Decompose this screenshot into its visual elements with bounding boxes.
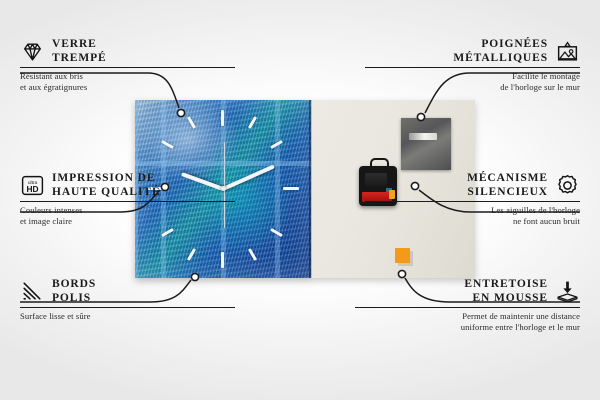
- panel-seam: [309, 100, 312, 278]
- svg-text:HD: HD: [26, 184, 38, 194]
- gear-icon: [555, 173, 580, 198]
- callout-description: Facilite le montagede l'horloge sur le m…: [365, 68, 580, 93]
- callout-description: Surface lisse et sûre: [20, 308, 235, 322]
- callout-bords-polis[interactable]: BORDSPOLIS Surface lisse et sûre: [20, 278, 235, 322]
- callout-header: BORDSPOLIS: [20, 278, 235, 307]
- callout-entretoise-en-mousse[interactable]: ENTRETOISEEN MOUSSE Permet de maintenir …: [355, 278, 580, 333]
- callout-header: ultra HD IMPRESSION DEHAUTE QUALITÉ: [20, 172, 235, 201]
- callout-description: Résistant aux briset aux égratignures: [20, 68, 235, 93]
- callout-header: POIGNÉESMÉTALLIQUES: [365, 38, 580, 67]
- ultra-hd-icon: ultra HD: [20, 173, 45, 198]
- callout-mecanisme-silencieux[interactable]: MÉCANISMESILENCIEUX Les aiguilles de l'h…: [365, 172, 580, 227]
- callout-title: BORDSPOLIS: [52, 278, 96, 305]
- callout-title: ENTRETOISEEN MOUSSE: [464, 278, 548, 305]
- callout-title: MÉCANISMESILENCIEUX: [467, 172, 548, 199]
- callout-title: VERRETREMPÉ: [52, 38, 107, 65]
- callout-header: VERRETREMPÉ: [20, 38, 235, 67]
- callout-title: POIGNÉESMÉTALLIQUES: [453, 38, 548, 65]
- callout-description: Couleurs intenseset image claire: [20, 202, 235, 227]
- foam-spacer-icon: [555, 279, 580, 304]
- diamond-icon: [20, 39, 45, 64]
- callout-description: Permet de maintenir une distanceuniforme…: [355, 308, 580, 333]
- callout-header: ENTRETOISEEN MOUSSE: [355, 278, 580, 307]
- picture-hanger-icon: [555, 39, 580, 64]
- callout-header: MÉCANISMESILENCIEUX: [365, 172, 580, 201]
- hanger-slot: [409, 133, 437, 140]
- metal-hanger-plate: [401, 118, 451, 170]
- callout-impression-haute-qualite[interactable]: ultra HD IMPRESSION DEHAUTE QUALITÉ Coul…: [20, 172, 235, 227]
- callout-title: IMPRESSION DEHAUTE QUALITÉ: [52, 172, 161, 199]
- movement-hook: [370, 158, 389, 170]
- infographic-canvas: VERRETREMPÉ Résistant aux briset aux égr…: [0, 0, 600, 400]
- callout-verre-trempe[interactable]: VERRETREMPÉ Résistant aux briset aux égr…: [20, 38, 235, 93]
- foam-spacer: [395, 248, 410, 263]
- callout-description: Les aiguilles de l'horlogene font aucun …: [365, 202, 580, 227]
- callout-poignees-metalliques[interactable]: POIGNÉESMÉTALLIQUES Facilite le montaged…: [365, 38, 580, 93]
- polished-edges-icon: [20, 279, 45, 304]
